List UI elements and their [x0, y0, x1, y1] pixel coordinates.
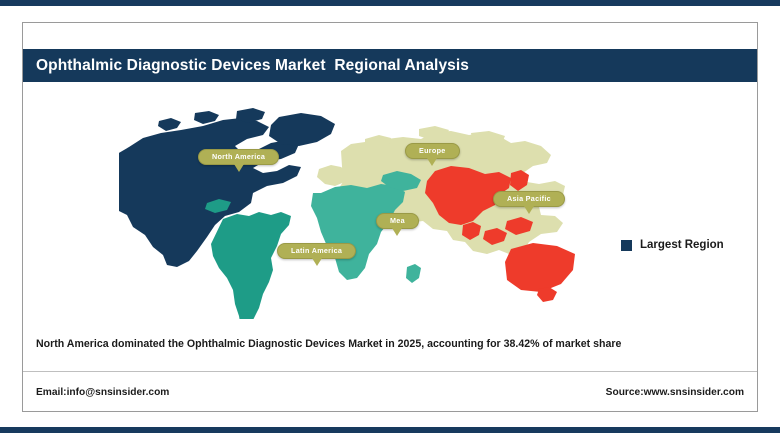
map-pin-label-asia-pacific: Asia Pacific	[493, 191, 565, 207]
map-pin-asia-pacific[interactable]: Asia Pacific	[493, 191, 565, 214]
map-pin-latin-america[interactable]: Latin America	[277, 243, 356, 266]
footer-source[interactable]: Source:www.snsinsider.com	[606, 387, 744, 398]
bottom-accent-strip	[0, 427, 780, 433]
map-pin-mea[interactable]: Mea	[376, 213, 419, 236]
top-accent-strip	[0, 0, 780, 6]
map-pin-tail-icon	[392, 228, 402, 236]
map-pin-tail-icon	[524, 206, 534, 214]
legend-label: Largest Region	[640, 239, 724, 251]
map-pin-tail-icon	[312, 258, 322, 266]
caption-text: North America dominated the Ophthalmic D…	[36, 338, 736, 350]
legend-swatch-icon	[621, 240, 632, 251]
report-card: Ophthalmic Diagnostic Devices Market Reg…	[22, 22, 758, 412]
header-bar: Ophthalmic Diagnostic Devices Market Reg…	[23, 49, 757, 82]
map-pin-label-europe: Europe	[405, 143, 460, 159]
map-pin-tail-icon	[427, 158, 437, 166]
map-pin-label-latin-america: Latin America	[277, 243, 356, 259]
map-pin-north-america[interactable]: North America	[198, 149, 279, 172]
footer-email[interactable]: Email:info@snsinsider.com	[36, 387, 169, 398]
footer: Email:info@snsinsider.com Source:www.sns…	[23, 372, 757, 412]
legend: Largest Region	[621, 239, 724, 251]
map-pin-europe[interactable]: Europe	[405, 143, 460, 166]
map-pin-tail-icon	[234, 164, 244, 172]
page-title: Ophthalmic Diagnostic Devices Market Reg…	[36, 57, 469, 75]
map-pin-label-mea: Mea	[376, 213, 419, 229]
map-pin-label-north-america: North America	[198, 149, 279, 165]
map-container: North America Europe Asia Pacific Mea La…	[23, 93, 757, 323]
